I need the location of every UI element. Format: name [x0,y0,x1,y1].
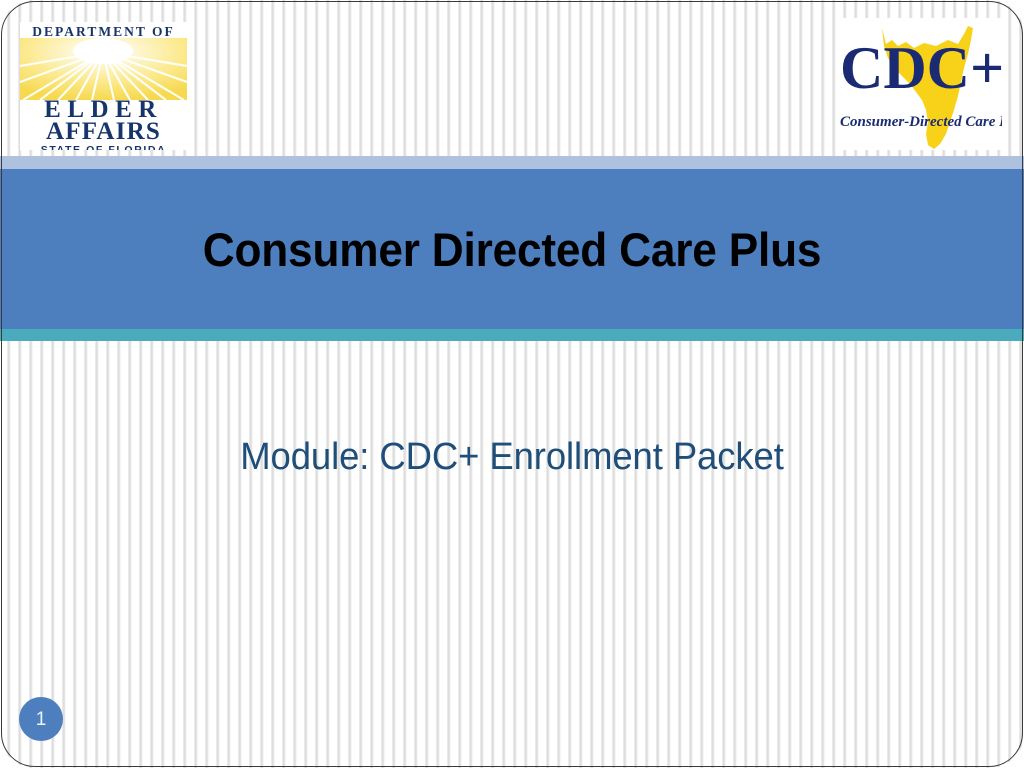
page-number-badge: 1 [19,697,63,741]
page-number-text: 1 [36,710,47,729]
cdc-plus-tagline: Consumer-Directed Care Plus [840,114,1002,131]
elder-affairs-word-affairs: AFFAIRS [20,119,187,144]
department-of-elder-affairs-logo: DEPARTMENT OF [20,22,187,150]
slide-title: Consumer Directed Care Plus [203,222,822,277]
slide-subtitle: Module: CDC+ Enrollment Packet [20,436,1003,479]
cdc-plus-letters: CDC+ [840,38,1002,98]
cdc-plus-logo: CDC+ Consumer-Directed Care Plus [840,18,1002,150]
slide-header: DEPARTMENT OF [0,0,1024,156]
title-band: Consumer Directed Care Plus [0,169,1024,329]
elder-affairs-state-label: STATE OF FLORIDA [20,144,187,150]
slide-body: Module: CDC+ Enrollment Packet [0,341,1024,768]
header-accent-band [0,156,1024,169]
sunburst-icon [20,38,187,100]
slide-canvas: DEPARTMENT OF [0,0,1024,768]
teal-accent-band [0,329,1024,341]
